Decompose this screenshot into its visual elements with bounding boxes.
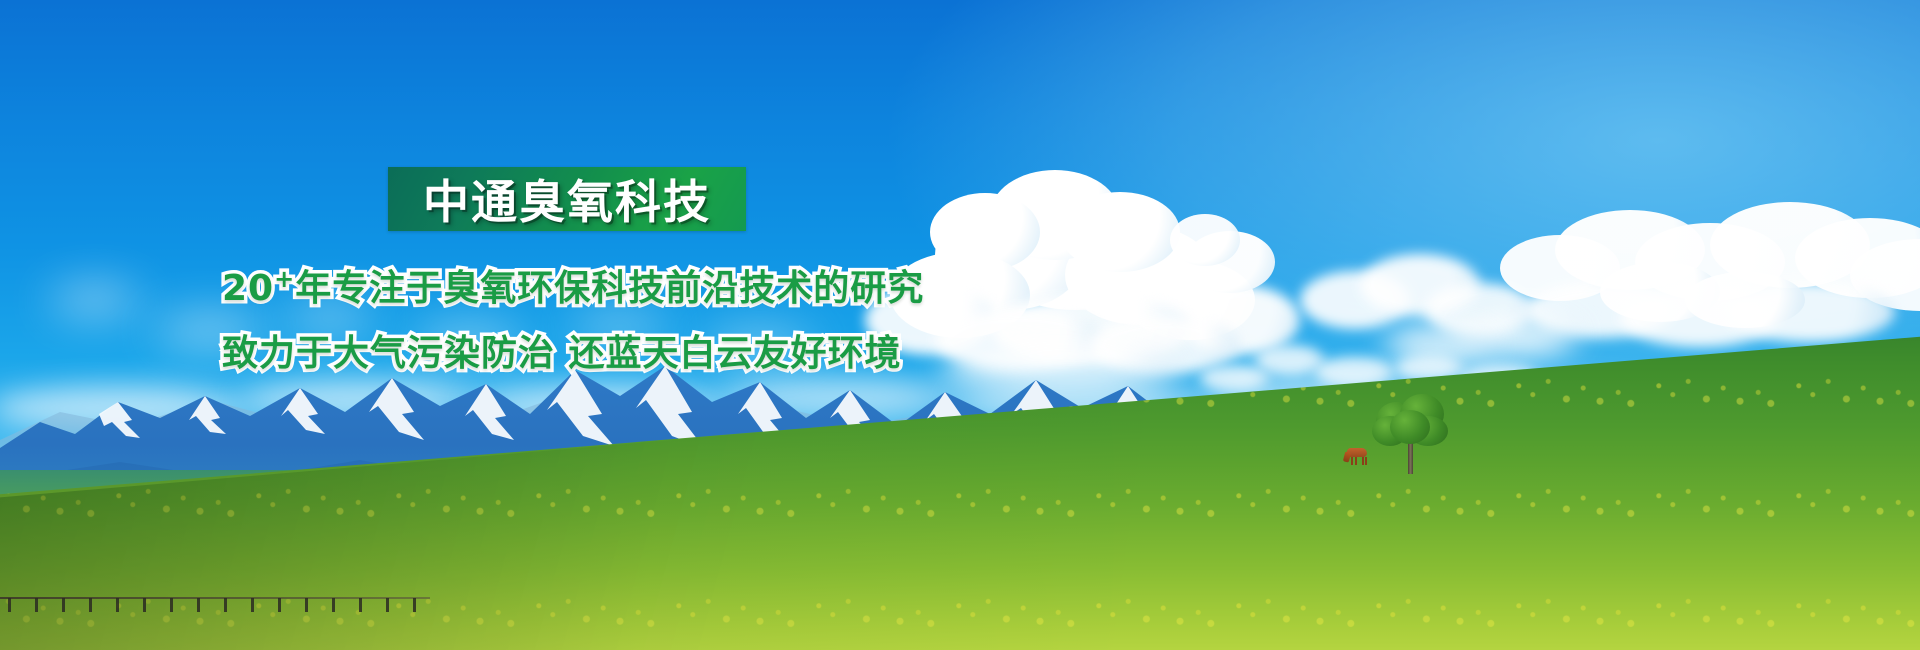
tagline-line-2: 致力于大气污染防治 还蓝天白云友好环境 — [222, 324, 902, 376]
hero-banner: 中通臭氧科技 20+年专注于臭氧环保科技前沿技术的研究 致力于大气污染防治 还蓝… — [0, 0, 1920, 650]
tagline-line-1-rest: 年专注于臭氧环保科技前沿技术的研究 — [295, 268, 924, 309]
tagline-years-number: 20 — [222, 268, 274, 309]
banner-text-overlay: 中通臭氧科技 20+年专注于臭氧环保科技前沿技术的研究 致力于大气污染防治 还蓝… — [0, 0, 1920, 650]
company-title: 中通臭氧科技 — [423, 166, 711, 232]
company-title-plate: 中通臭氧科技 — [388, 167, 746, 231]
tagline-plus-superscript: + — [274, 265, 295, 293]
tagline-line-1: 20+年专注于臭氧环保科技前沿技术的研究 — [222, 259, 924, 311]
